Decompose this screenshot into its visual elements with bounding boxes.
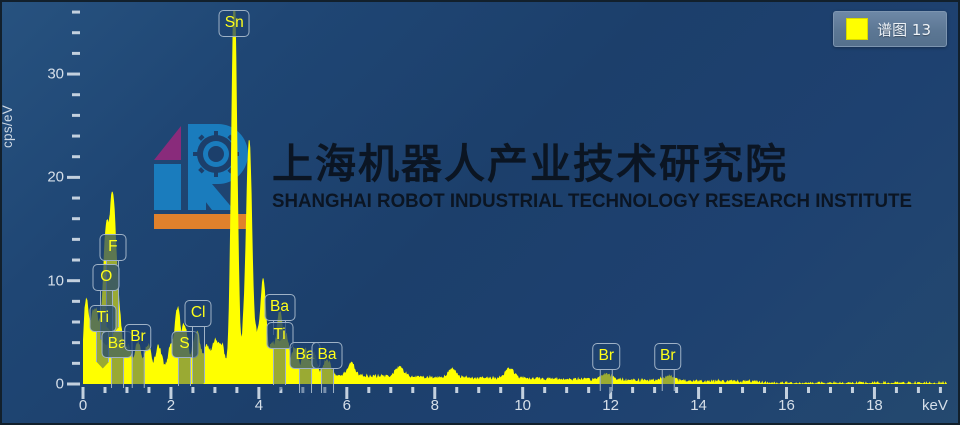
eds-spectrum-viewer: 上海机器人产业技术研究院 SHANGHAI ROBOT INDUSTRIAL T… xyxy=(0,0,960,425)
spectrum-plot[interactable] xyxy=(83,10,947,384)
y-axis-label: cps/eV xyxy=(0,105,15,148)
x-axis-unit-label: keV xyxy=(922,397,948,414)
y-tick-label: 30 xyxy=(30,66,64,83)
x-tick-label: 0 xyxy=(79,397,87,414)
x-tick-label: 6 xyxy=(343,397,351,414)
y-axis-tick-labels: 0102030 xyxy=(30,10,64,384)
x-tick-label: 4 xyxy=(255,397,263,414)
y-tick-label: 20 xyxy=(30,169,64,186)
legend-color-swatch xyxy=(846,18,868,40)
y-tick-label: 0 xyxy=(30,376,64,393)
legend[interactable]: 谱图 13 xyxy=(833,11,947,47)
x-tick-label: 14 xyxy=(690,397,707,414)
legend-series-label: 谱图 13 xyxy=(877,19,931,40)
x-tick-label: 10 xyxy=(514,397,531,414)
y-tick-label: 10 xyxy=(30,272,64,289)
x-tick-label: 18 xyxy=(866,397,883,414)
spectrum-trace xyxy=(83,10,947,384)
x-tick-label: 8 xyxy=(431,397,439,414)
x-axis-tick-labels: 024681012141618 xyxy=(83,397,953,419)
x-tick-label: 12 xyxy=(602,397,619,414)
x-tick-label: 16 xyxy=(778,397,795,414)
x-tick-label: 2 xyxy=(167,397,175,414)
